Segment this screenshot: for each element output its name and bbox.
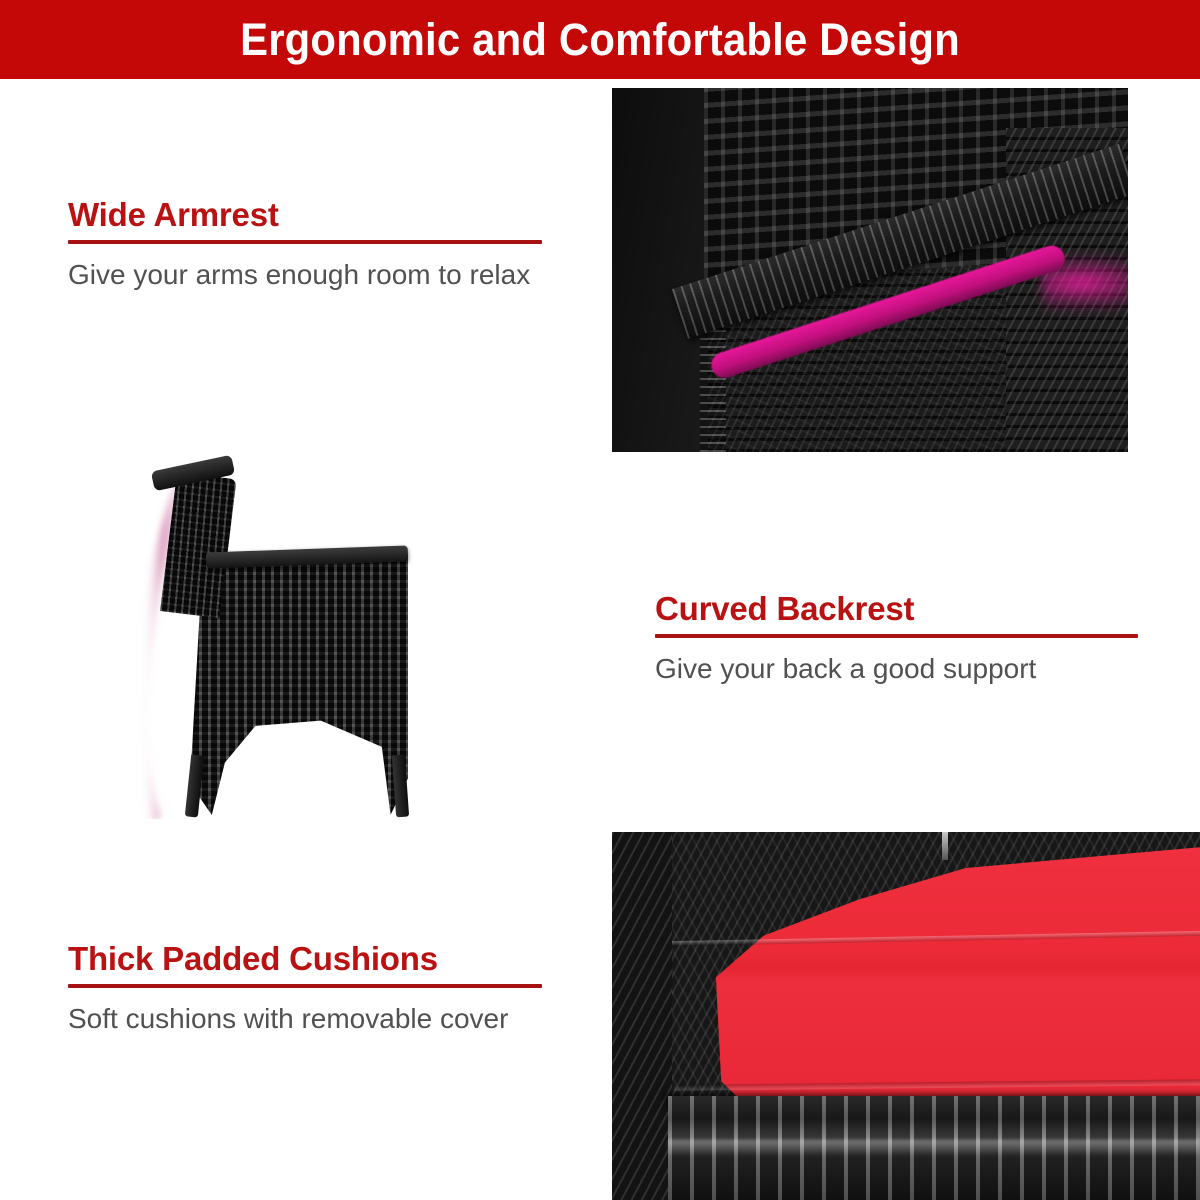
wicker-side-panel <box>612 88 708 452</box>
header-banner: Ergonomic and Comfortable Design <box>0 0 1200 79</box>
feature-description-thick-padded-cushions: Soft cushions with removable cover <box>68 999 546 1039</box>
feature-heading-wide-armrest: Wide Armrest <box>68 196 546 234</box>
wicker-rail-sheen <box>668 1140 1200 1156</box>
feature-description-wide-armrest: Give your arms enough room to relax <box>68 255 546 295</box>
wicker-left-post <box>612 832 672 1200</box>
feature-heading-curved-backrest: Curved Backrest <box>655 590 1140 628</box>
page-title: Ergonomic and Comfortable Design <box>240 17 960 62</box>
feature-block-curved-backrest: Curved Backrest Give your back a good su… <box>655 590 1140 689</box>
feature-description-curved-backrest: Give your back a good support <box>655 649 1140 689</box>
heading-underline-rule <box>68 984 542 988</box>
feature-heading-thick-padded-cushions: Thick Padded Cushions <box>68 940 546 978</box>
feature-block-wide-armrest: Wide Armrest Give your arms enough room … <box>68 196 546 295</box>
chair-side-profile-illustration <box>130 455 440 825</box>
wicker-highlight-sliver <box>942 832 948 860</box>
heading-underline-rule <box>655 634 1138 638</box>
photo-armrest-closeup <box>612 88 1128 452</box>
photo-cushion-closeup <box>612 832 1200 1200</box>
feature-block-thick-padded-cushions: Thick Padded Cushions Soft cushions with… <box>68 940 546 1039</box>
heading-underline-rule <box>68 240 542 244</box>
product-feature-page: Ergonomic and Comfortable Design Wide Ar… <box>0 0 1200 1200</box>
